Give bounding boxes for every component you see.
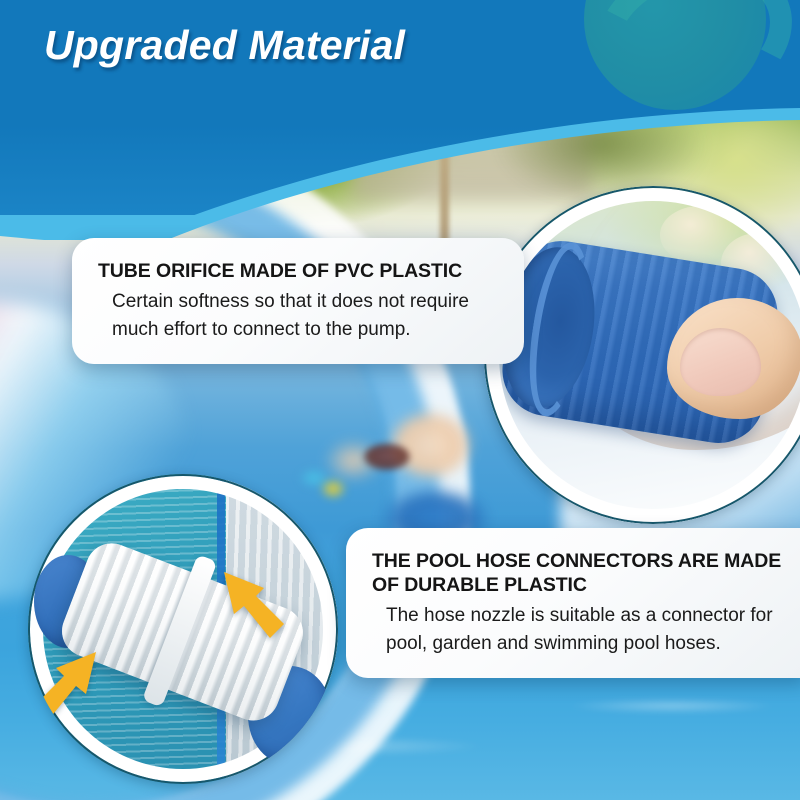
callout-body: Certain softness so that it does not req…	[98, 288, 498, 344]
callout-card-hose: THE POOL HOSE CONNECTORS ARE MADE OF DUR…	[346, 528, 800, 678]
child-face-detail	[364, 444, 410, 470]
callout-body: The hose nozzle is suitable as a connect…	[372, 602, 788, 658]
page-title: Upgraded Material	[44, 22, 405, 69]
callout-heading: TUBE ORIFICE MADE OF PVC PLASTIC	[98, 260, 498, 284]
callout-card-pvc: TUBE ORIFICE MADE OF PVC PLASTIC Certain…	[72, 238, 524, 364]
hand-holding-cuff-photo	[484, 186, 800, 524]
highlight-arrow-right	[200, 566, 286, 642]
hose-connector-photo	[28, 474, 338, 784]
product-infographic: Upgraded Material	[0, 0, 800, 800]
callout-heading: THE POOL HOSE CONNECTORS ARE MADE OF DUR…	[372, 550, 788, 598]
highlight-arrow-left	[34, 646, 120, 722]
